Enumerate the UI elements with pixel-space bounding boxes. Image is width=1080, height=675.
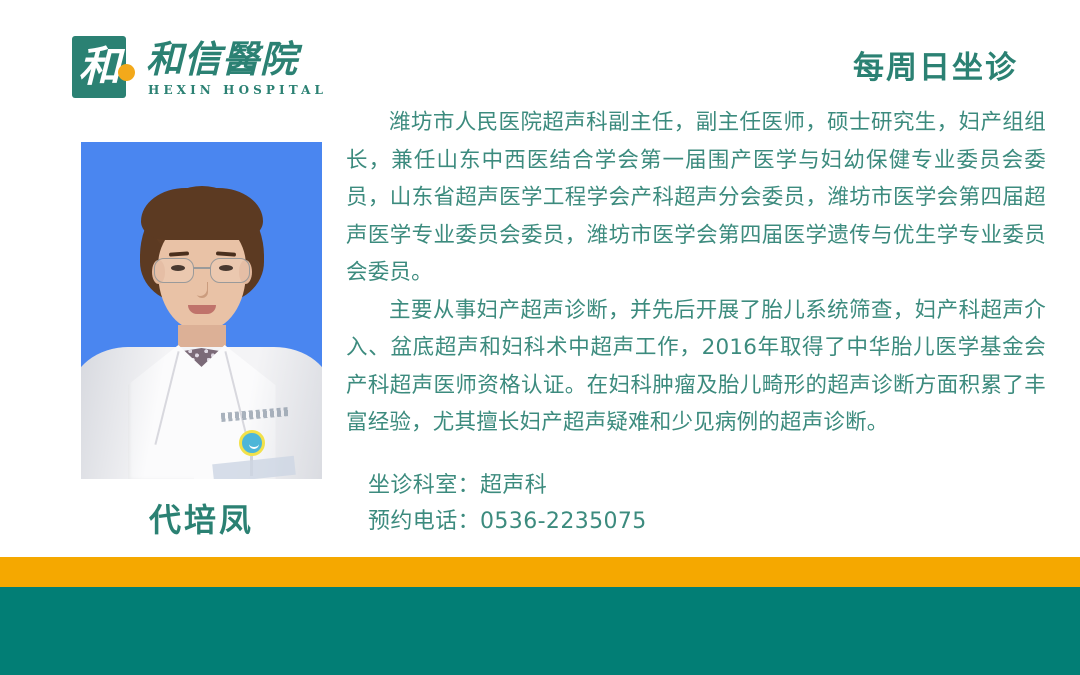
portrait-bangs [141, 188, 263, 240]
staff-badge-icon [239, 430, 265, 456]
logo-mark-glyph: 和 [72, 36, 126, 98]
clinic-meta: 坐诊科室：超声科 预约电话：0536-2235075 [368, 468, 1048, 540]
logo-name-en: HEXIN HOSPITAL [148, 83, 378, 97]
doctor-photo [81, 142, 322, 479]
logo-mark-icon: 和 [72, 36, 126, 98]
headline: 每周日坐诊 [853, 48, 1018, 88]
logo-accent-dot-icon [118, 64, 135, 81]
footer-teal-band: 寿光和信医院 [0, 587, 1080, 675]
glasses-lens-right [210, 258, 250, 283]
hospital-logo: 和 和信醫院 HEXIN HOSPITAL [72, 36, 312, 102]
footer-orange-band [0, 557, 1080, 587]
biography: 潍坊市人民医院超声科副主任，副主任医师，硕士研究生，妇产组组长，兼任山东中西医结… [346, 104, 1046, 442]
bio-paragraph-1: 潍坊市人民医院超声科副主任，副主任医师，硕士研究生，妇产组组长，兼任山东中西医结… [346, 104, 1046, 292]
clinic-phone: 预约电话：0536-2235075 [368, 504, 1048, 540]
portrait-glasses [154, 258, 250, 282]
bio-paragraph-2: 主要从事妇产超声诊断，并先后开展了胎儿系统筛查，妇产科超声介入、盆底超声和妇科术… [346, 292, 1046, 442]
doctor-name: 代培凤 [81, 495, 322, 541]
glasses-lens-left [154, 258, 194, 283]
glasses-bridge [193, 267, 211, 269]
portrait-nose [196, 282, 208, 298]
clinic-department: 坐诊科室：超声科 [368, 468, 1048, 504]
logo-name-cn: 和信醫院 [146, 34, 316, 84]
poster-root: 和 和信醫院 HEXIN HOSPITAL 每周日坐诊 [0, 0, 1080, 675]
